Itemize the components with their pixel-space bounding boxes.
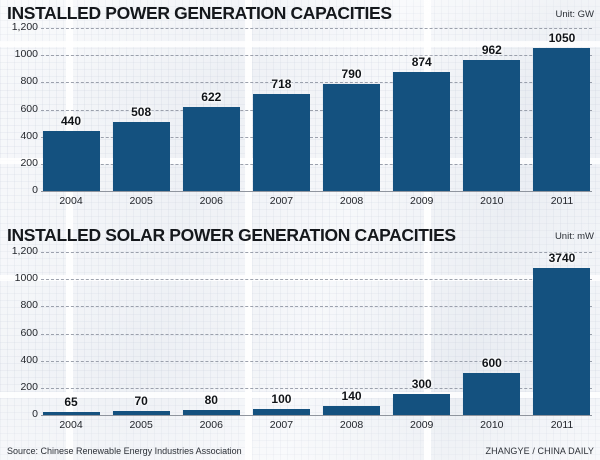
- chart1-bar-value-2008: 790: [342, 68, 362, 81]
- chart1-bar-value-2006: 622: [201, 91, 221, 104]
- chart2-x-axis-labels: 2004 2005 2006 2007 2008 2009 2010 2011: [41, 419, 592, 431]
- chart1-bar-2009[interactable]: 874: [392, 28, 452, 191]
- chart1-bar-2008[interactable]: 790: [322, 28, 382, 191]
- chart2-bar-2011[interactable]: 3740: [532, 252, 592, 415]
- chart1-xlabel-2010: 2010: [462, 195, 522, 207]
- chart2-bar-value-2011: 3740: [549, 252, 576, 265]
- chart2-ytick-1200: 1,200: [2, 245, 38, 257]
- chart1-bar-value-2007: 718: [271, 78, 291, 91]
- chart1-xlabel-2005: 2005: [111, 195, 171, 207]
- chart2-header: INSTALLED SOLAR POWER GENERATION CAPACIT…: [0, 222, 600, 244]
- chart2-xlabel-2005: 2005: [111, 419, 171, 431]
- chart2-xlabel-2004: 2004: [41, 419, 101, 431]
- chart1-bar-rect-2008[interactable]: [323, 84, 380, 191]
- chart2-bar-2006[interactable]: 80: [181, 252, 241, 415]
- chart1-title: INSTALLED POWER GENERATION CAPACITIES: [7, 4, 392, 22]
- chart1-ytick-600: 600: [2, 103, 38, 115]
- chart1-bar-rect-2005[interactable]: [113, 122, 170, 191]
- chart1-y-axis: 1,200 1000 800 600 400 200 0: [0, 28, 38, 191]
- chart2-xlabel-2010: 2010: [462, 419, 522, 431]
- chart1-bar-2006[interactable]: 622: [181, 28, 241, 191]
- chart2-bar-2008[interactable]: 140: [322, 252, 382, 415]
- chart2-xlabel-2009: 2009: [392, 419, 452, 431]
- chart1-xlabel-2011: 2011: [532, 195, 592, 207]
- chart1-x-axis-labels: 2004 2005 2006 2007 2008 2009 2010 2011: [41, 195, 592, 207]
- chart1-x-axis-line: [41, 191, 592, 192]
- chart2-xlabel-2008: 2008: [322, 419, 382, 431]
- chart-installed-power-generation-capacities: 1,200 1000 800 600 400 200 0 440 508 622…: [0, 28, 600, 208]
- chart2-bar-2010[interactable]: 600: [462, 252, 522, 415]
- chart2-title: INSTALLED SOLAR POWER GENERATION CAPACIT…: [7, 226, 456, 244]
- chart2-bar-2007[interactable]: 100: [251, 252, 311, 415]
- chart1-bar-2007[interactable]: 718: [251, 28, 311, 191]
- chart1-bar-rect-2010[interactable]: [463, 60, 520, 191]
- chart2-bar-value-2005: 70: [134, 395, 147, 408]
- chart2-x-axis-line: [41, 415, 592, 416]
- chart2-bar-2005[interactable]: 70: [111, 252, 171, 415]
- chart2-bar-value-2007: 100: [271, 393, 291, 406]
- chart1-bar-value-2009: 874: [412, 56, 432, 69]
- chart1-xlabel-2004: 2004: [41, 195, 101, 207]
- chart2-xlabel-2006: 2006: [181, 419, 241, 431]
- infographic-root: INSTALLED POWER GENERATION CAPACITIES Un…: [0, 0, 600, 460]
- chart1-ytick-400: 400: [2, 130, 38, 142]
- chart2-xlabel-2011: 2011: [532, 419, 592, 431]
- chart1-xlabel-2008: 2008: [322, 195, 382, 207]
- chart1-bar-rect-2006[interactable]: [183, 107, 240, 192]
- chart1-header: INSTALLED POWER GENERATION CAPACITIES Un…: [0, 0, 600, 22]
- chart2-ytick-400: 400: [2, 354, 38, 366]
- chart2-bar-value-2010: 600: [482, 357, 502, 370]
- chart1-bar-value-2010: 962: [482, 44, 502, 57]
- chart1-xlabel-2009: 2009: [392, 195, 452, 207]
- chart1-bar-value-2011: 1050: [549, 32, 576, 45]
- chart1-bar-rect-2007[interactable]: [253, 94, 310, 192]
- chart2-bar-value-2009: 300: [412, 378, 432, 391]
- chart2-bar-rect-2004[interactable]: [43, 412, 100, 416]
- chart1-xlabel-2006: 2006: [181, 195, 241, 207]
- source-attribution: Source: Chinese Renewable Energy Industr…: [7, 446, 242, 456]
- chart2-ytick-600: 600: [2, 327, 38, 339]
- chart2-bar-value-2006: 80: [205, 394, 218, 407]
- chart2-ytick-800: 800: [2, 299, 38, 311]
- chart1-bar-2010[interactable]: 962: [462, 28, 522, 191]
- chart1-ytick-800: 800: [2, 75, 38, 87]
- chart2-bar-rect-2011[interactable]: [533, 268, 590, 415]
- chart1-ytick-1000: 1000: [2, 48, 38, 60]
- chart1-bar-value-2005: 508: [131, 106, 151, 119]
- chart1-ytick-1200: 1,200: [2, 21, 38, 33]
- chart2-ytick-1000: 1000: [2, 272, 38, 284]
- chart1-unit-label: Unit: GW: [555, 8, 594, 22]
- chart1-bar-2005[interactable]: 508: [111, 28, 171, 191]
- chart2-bar-2004[interactable]: 65: [41, 252, 101, 415]
- chart1-ytick-0: 0: [2, 184, 38, 196]
- credit-attribution: ZHANGYE / CHINA DAILY: [486, 446, 594, 456]
- chart2-unit-label: Unit: mW: [555, 230, 594, 244]
- chart2-bar-value-2008: 140: [342, 390, 362, 403]
- chart2-bar-2009[interactable]: 300: [392, 252, 452, 415]
- chart1-bar-rect-2009[interactable]: [393, 72, 450, 191]
- chart2-bar-rect-2010[interactable]: [463, 373, 520, 415]
- chart2-bar-value-2004: 65: [64, 396, 77, 409]
- chart2-y-axis: 1,200 1000 800 600 400 200 0: [0, 252, 38, 415]
- chart1-ytick-200: 200: [2, 157, 38, 169]
- chart2-bar-rect-2009[interactable]: [393, 394, 450, 415]
- chart1-bar-rect-2004[interactable]: [43, 131, 100, 191]
- chart-installed-solar-power-generation-capacities: 1,200 1000 800 600 400 200 0 65 70 80 10…: [0, 252, 600, 432]
- chart2-bar-rect-2006[interactable]: [183, 410, 240, 415]
- chart1-bar-value-2004: 440: [61, 115, 81, 128]
- chart1-bar-2004[interactable]: 440: [41, 28, 101, 191]
- chart2-bar-rect-2007[interactable]: [253, 409, 310, 416]
- footer: Source: Chinese Renewable Energy Industr…: [0, 444, 600, 458]
- chart1-bar-group: 440 508 622 718 790 874: [41, 28, 592, 191]
- chart2-ytick-200: 200: [2, 381, 38, 393]
- chart1-xlabel-2007: 2007: [251, 195, 311, 207]
- chart1-bar-rect-2011[interactable]: [533, 48, 590, 191]
- chart2-xlabel-2007: 2007: [251, 419, 311, 431]
- chart2-bar-rect-2005[interactable]: [113, 411, 170, 415]
- chart1-bar-2011[interactable]: 1050: [532, 28, 592, 191]
- chart2-bar-group: 65 70 80 100 140 300: [41, 252, 592, 415]
- chart2-ytick-0: 0: [2, 408, 38, 420]
- chart2-bar-rect-2008[interactable]: [323, 406, 380, 416]
